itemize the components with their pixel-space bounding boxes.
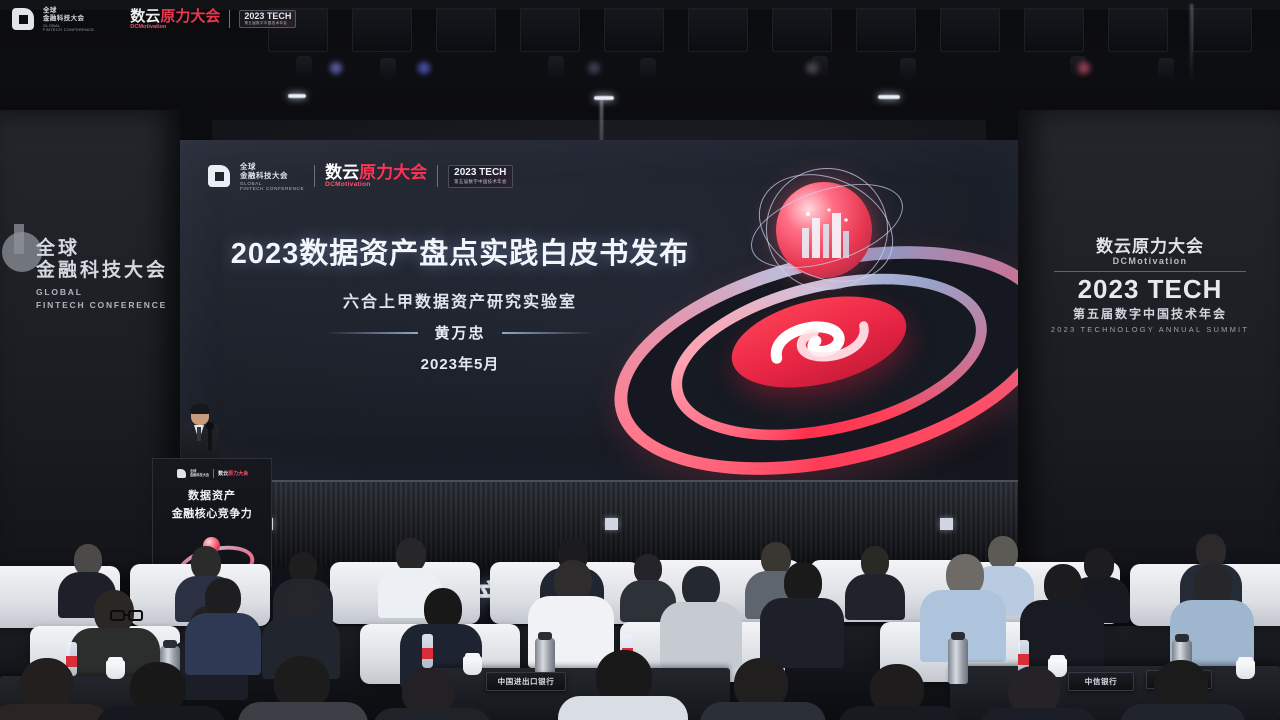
podium-title-block: 数据资产 金融核心竞争力	[153, 487, 271, 521]
watermark-shuyun-main: 数云	[130, 8, 160, 25]
right-sign-line1: 数云原力大会 DCMotivation	[1050, 232, 1250, 266]
left-sign-en-line1: GLOBAL	[36, 286, 168, 299]
podium-logo-bar: 全球 金融科技大会 数云原力大会	[177, 469, 248, 478]
podium-shuyun-logo: 数云原力大会	[218, 470, 248, 477]
stage-lamp	[548, 56, 564, 78]
slide-logo-divider	[314, 165, 315, 187]
right-sign-shuyun: 数云	[1096, 237, 1132, 256]
audience-member-front	[238, 656, 368, 720]
audience-member	[760, 562, 844, 666]
spot-beam	[1190, 4, 1193, 84]
slide-tech-badge: 2023 TECH 第五届数字中国技术年会	[448, 165, 513, 188]
slide-gfc-cn2: 金融科技大会	[240, 171, 304, 180]
presenter-tie	[197, 427, 201, 441]
truss-cell	[772, 8, 832, 52]
apron-light-panel	[940, 518, 953, 530]
stage-lamp	[1158, 58, 1174, 80]
stage-lamp	[640, 58, 656, 80]
audience-member	[845, 546, 905, 614]
watermark-tech-cn: 第五届数字中国技术年会	[244, 21, 291, 26]
slide-header-logo-bar: 全球 金融科技大会 GLOBAL FINTECH CONFERENCE 数云原力…	[208, 162, 513, 191]
audience-shoulders	[558, 696, 688, 720]
left-sign-cn-line1: 全球	[36, 238, 168, 260]
left-sign-cn-line2: 金融科技大会	[36, 260, 168, 282]
truss-cell	[1024, 8, 1084, 52]
right-sign-line3: 第五届数字中国技术年会	[1050, 305, 1250, 322]
eyeglasses-icon	[110, 608, 144, 622]
right-sign-en: DCMotivation	[1050, 256, 1250, 266]
ceiling-light	[288, 94, 306, 98]
audience-shoulders	[845, 574, 905, 620]
audience-member-front	[700, 658, 826, 720]
watermark-gfc-mark-icon	[12, 8, 34, 30]
speaker-rule-left	[326, 332, 418, 334]
logo-bar-shape	[14, 224, 24, 254]
slide-gfc-text: 全球 金融科技大会 GLOBAL FINTECH CONFERENCE	[240, 162, 304, 191]
audience-head	[191, 546, 221, 580]
audience-member-front	[978, 666, 1098, 720]
watermark-shuyun-accent: 原力大会	[160, 8, 220, 25]
slide-tech-cn: 第五届数字中国技术年会	[454, 179, 507, 185]
audience-shoulders	[978, 708, 1098, 720]
watermark-gfc-text: 全球 金融科技大会 GLOBAL FINTECH CONFERENCE	[43, 7, 94, 32]
watermark-gfc-en2: FINTECH CONFERENCE	[43, 28, 94, 32]
podium-title-line1: 数据资产	[153, 487, 271, 503]
lamp-glow	[806, 62, 818, 74]
truss-cell	[520, 8, 580, 52]
slide-logo-divider-2	[437, 165, 438, 187]
slide-shuyun-sub: DCMotivation	[325, 181, 427, 188]
slide-speaker-name: 黄万忠	[434, 322, 485, 343]
stage-lamp	[380, 58, 396, 80]
spiral-globe-graphic	[580, 160, 1018, 470]
table-nameplate: 中国进出口银行	[486, 672, 566, 691]
audience-member-front	[838, 664, 962, 720]
apron-light-panel	[605, 518, 618, 530]
ceiling-light	[594, 96, 614, 100]
audience-shoulders	[238, 702, 368, 720]
audience-shoulders	[838, 706, 962, 720]
slide-shuyun-row: 数云原力大会	[325, 164, 427, 181]
microphone-icon	[208, 427, 212, 451]
watermark-tech-badge: 2023 TECH 第五届数字中国技术年会	[239, 10, 296, 28]
slide-tech-year: 2023 TECH	[454, 168, 507, 178]
audience-head	[396, 538, 426, 572]
audience-member-front	[1120, 660, 1246, 720]
podium-gfc-cn2: 金融科技大会	[190, 474, 209, 478]
right-sign-shuyun-accent: 原力大会	[1132, 237, 1204, 256]
right-wall	[1018, 110, 1280, 580]
truss-cell	[352, 8, 412, 52]
stage-lamp	[900, 58, 916, 80]
truss-cell	[940, 8, 1000, 52]
podium-logo-divider	[213, 469, 214, 478]
right-sign-divider	[1054, 271, 1246, 272]
watermark-shuyun-row: 数云原力大会	[130, 9, 220, 24]
stage-lamp	[296, 56, 312, 78]
presenter-at-podium	[178, 405, 222, 463]
truss-cell	[604, 8, 664, 52]
watermark-divider	[229, 10, 230, 28]
audience-head	[284, 582, 320, 622]
gfc-mark-icon	[208, 165, 230, 187]
podium-shuyun-accent: 原力大会	[228, 471, 248, 477]
podium-gfc-mark-icon	[177, 469, 186, 478]
audience-shoulders	[0, 704, 110, 720]
audience-shoulders	[700, 702, 826, 720]
audience-member-front	[96, 662, 226, 720]
slide-shuyun-logo: 数云原力大会 DCMotivation	[325, 164, 427, 188]
podium-gfc-text: 全球 金融科技大会	[190, 470, 209, 478]
audience-shoulders	[96, 706, 226, 720]
audience-shoulders	[1120, 704, 1246, 720]
audience-member-front	[372, 668, 492, 720]
truss-cell	[856, 8, 916, 52]
lamp-glow	[588, 62, 600, 74]
broadcast-watermark: 全球 金融科技大会 GLOBAL FINTECH CONFERENCE 数云原力…	[12, 7, 296, 32]
lamp-glow	[330, 62, 342, 74]
truss-cell	[436, 8, 496, 52]
left-wall-signage: 全球 金融科技大会 GLOBAL FINTECH CONFERENCE	[36, 238, 168, 311]
truss-cell	[1108, 8, 1168, 52]
truss-cell	[1192, 8, 1252, 52]
audience-member-front	[0, 658, 110, 720]
watermark-shuyun-logo: 数云原力大会 DCMotivation	[130, 9, 220, 30]
slide-shuyun-accent: 原力大会	[359, 163, 427, 182]
lamp-glow	[418, 62, 430, 74]
audience-member-front	[558, 650, 688, 720]
right-sign-line2: 2023 TECH	[1050, 276, 1250, 302]
right-sign-line4: 2023 TECHNOLOGY ANNUAL SUMMIT	[1050, 325, 1250, 334]
global-fintech-logo-mark	[0, 226, 40, 304]
watermark-gfc-cn2: 金融科技大会	[43, 15, 94, 23]
podium-title-line2: 金融核心竞争力	[153, 505, 271, 521]
podium-shuyun-main: 数云	[218, 471, 228, 477]
ceiling-light	[878, 95, 900, 99]
lamp-glow	[1078, 62, 1090, 74]
slide-shuyun-main: 数云	[325, 163, 359, 182]
audience-shoulders	[372, 708, 492, 720]
audience-member	[1020, 564, 1104, 666]
audience-head	[205, 578, 241, 618]
left-sign-en-line2: FINTECH CONFERENCE	[36, 299, 168, 312]
water-bottle	[422, 634, 433, 668]
right-wall-signage: 数云原力大会 DCMotivation 2023 TECH 第五届数字中国技术年…	[1050, 232, 1250, 334]
main-led-screen: 全球 金融科技大会 GLOBAL FINTECH CONFERENCE 数云原力…	[180, 140, 1018, 480]
audience-head	[1196, 534, 1226, 568]
conference-hall-scene: 全球 金融科技大会 GLOBAL FINTECH CONFERENCE 数云原力…	[0, 0, 1280, 720]
presenter-hair	[190, 404, 210, 414]
audience-area: 中国进出口银行 中信银行 中信银行	[0, 530, 1280, 720]
truss-cell	[688, 8, 748, 52]
slide-gfc-cn1: 全球	[240, 162, 304, 171]
slide-gfc-en2: FINTECH CONFERENCE	[240, 186, 304, 191]
